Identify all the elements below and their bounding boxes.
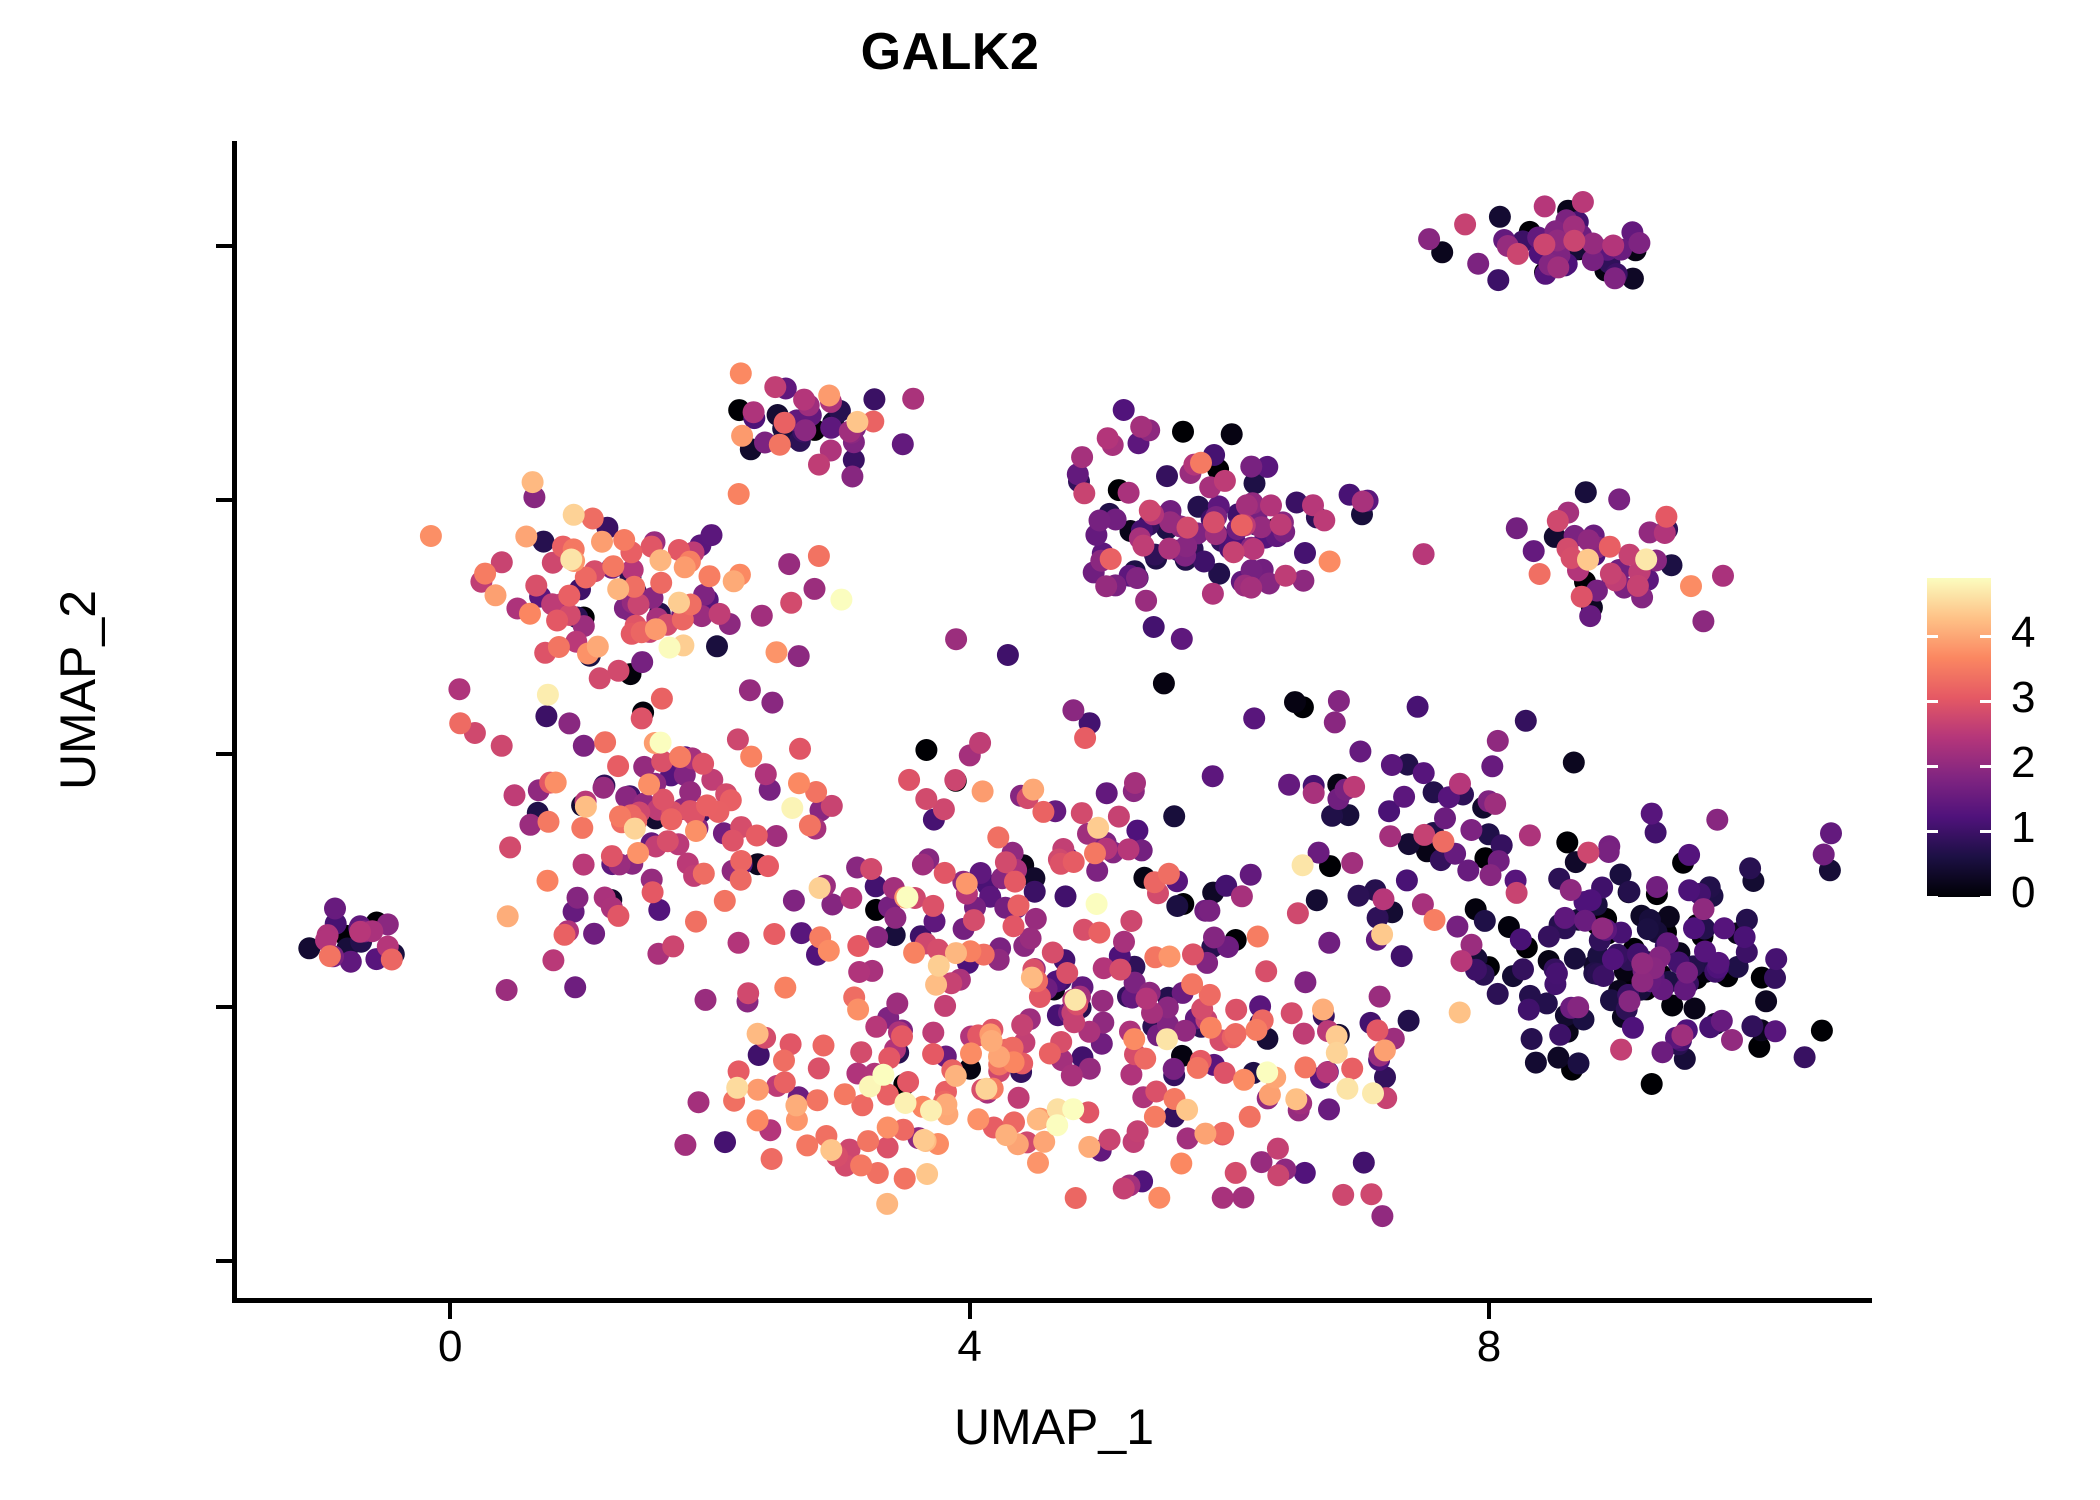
x-tick-label: 4 [910, 1322, 1030, 1372]
scatter-point [601, 845, 623, 867]
scatter-point [769, 434, 791, 456]
scatter-point [1027, 1152, 1049, 1174]
scatter-point [1712, 565, 1734, 587]
scatter-point [1294, 1056, 1316, 1078]
scatter-point [902, 388, 924, 410]
scatter-point [696, 794, 718, 816]
scatter-point [1203, 511, 1225, 533]
scatter-point [1454, 213, 1476, 235]
scatter-point [737, 982, 759, 1004]
scatter-point [1579, 605, 1601, 627]
scatter-point [1602, 235, 1624, 257]
scatter-point [525, 575, 547, 597]
scatter-point [1352, 491, 1374, 513]
scatter-point [1032, 801, 1054, 823]
scatter-point [818, 940, 840, 962]
colorbar-tick-label: 4 [2011, 611, 2035, 655]
scatter-point [1027, 1109, 1049, 1131]
scatter-point [607, 905, 629, 927]
scatter-point [558, 585, 580, 607]
scatter-point [1460, 819, 1482, 841]
scatter-point [1240, 864, 1262, 886]
scatter-point [1243, 538, 1265, 560]
scatter-point [1341, 1058, 1363, 1080]
scatter-point [848, 961, 870, 983]
scatter-point [591, 531, 613, 553]
scatter-point [761, 692, 783, 714]
scatter-point [1306, 889, 1328, 911]
scatter-point [1132, 535, 1154, 557]
colorbar-tick-mark [1927, 830, 1938, 833]
scatter-point [1591, 917, 1613, 939]
scatter-point [1556, 831, 1578, 853]
scatter-point [1348, 885, 1370, 907]
scatter-point [799, 815, 821, 837]
scatter-point [607, 578, 629, 600]
scatter-point [542, 949, 564, 971]
scatter-point [587, 636, 609, 658]
scatter-point [662, 935, 684, 957]
scatter-point [381, 949, 403, 971]
scatter-point [650, 732, 672, 754]
scatter-point [1341, 852, 1363, 874]
scatter-point [766, 641, 788, 663]
scatter-point [944, 769, 966, 791]
scatter-point [1641, 1073, 1663, 1095]
scatter-point [1284, 691, 1306, 713]
scatter-point [781, 797, 803, 819]
scatter-point [981, 1030, 1003, 1052]
scatter-point [607, 755, 629, 777]
scatter-point [1604, 267, 1626, 289]
scatter-point [1512, 958, 1534, 980]
scatter-point [1480, 864, 1502, 886]
scatter-point [896, 886, 918, 908]
scatter-point [915, 739, 937, 761]
scatter-point [1231, 885, 1253, 907]
scatter-point [898, 769, 920, 791]
scatter-point [1451, 950, 1473, 972]
scatter-point [747, 1079, 769, 1101]
y-axis-title: UMAP_2 [49, 390, 107, 990]
scatter-point [613, 529, 635, 551]
scatter-point [808, 545, 830, 567]
scatter-point [1328, 690, 1350, 712]
scatter-point [548, 636, 570, 658]
scatter-point [1765, 948, 1787, 970]
scatter-point [627, 842, 649, 864]
scatter-point [1294, 542, 1316, 564]
scatter-point [1214, 1062, 1236, 1084]
scatter-point [474, 563, 496, 585]
scatter-point [1246, 1019, 1268, 1041]
scatter-point [1170, 1153, 1192, 1175]
scatter-point [1739, 857, 1761, 879]
scatter-point [763, 923, 785, 945]
scatter-point [866, 926, 888, 948]
scatter-point [761, 1148, 783, 1170]
scatter-point [1194, 1123, 1216, 1145]
scatter-point [701, 524, 723, 546]
scatter-point [1820, 822, 1842, 844]
scatter-point [1324, 711, 1346, 733]
scatter-point [1582, 233, 1604, 255]
scatter-point [788, 645, 810, 667]
scatter-point [1198, 900, 1220, 922]
scatter-point [589, 667, 611, 689]
scatter-point [1240, 577, 1262, 599]
scatter-point [778, 553, 800, 575]
scatter-point [794, 419, 816, 441]
scatter-point [706, 635, 728, 657]
scatter-point [602, 555, 624, 577]
scatter-point [1126, 567, 1148, 589]
scatter-point [594, 731, 616, 753]
scatter-point [751, 605, 773, 627]
scatter-point [1457, 860, 1479, 882]
scatter-point [1434, 807, 1456, 829]
scatter-point [1353, 1152, 1375, 1174]
colorbar-tick-label: 0 [2011, 871, 2035, 915]
scatter-point [624, 818, 646, 840]
scatter-point [657, 830, 679, 852]
scatter-point [987, 826, 1009, 848]
colorbar-gradient [1927, 578, 1991, 897]
scatter-point [804, 578, 826, 600]
scatter-point [1706, 809, 1728, 831]
scatter-point [1560, 879, 1582, 901]
scatter-point [1755, 990, 1777, 1012]
scatter-point [1078, 1136, 1100, 1158]
scatter-point [1474, 910, 1496, 932]
scatter-point [730, 869, 752, 891]
scatter-point [850, 1041, 872, 1063]
scatter-point [1088, 922, 1110, 944]
scatter-point [1534, 195, 1556, 217]
scatter-point [847, 935, 869, 957]
scatter-point [1267, 1138, 1289, 1160]
scatter-point [535, 705, 557, 727]
scatter-point [1515, 710, 1537, 732]
scatter-point [1652, 1041, 1674, 1063]
scatter-point [1120, 910, 1142, 932]
scatter-point [1641, 803, 1663, 825]
scatter-point [660, 808, 682, 830]
scatter-point [1811, 1020, 1833, 1042]
scatter-point [1563, 752, 1585, 774]
scatter-point [1343, 776, 1365, 798]
scatter-point [1267, 1164, 1289, 1186]
scatter-point [1600, 563, 1622, 585]
scatter-point [850, 1154, 872, 1176]
scatter-point [1523, 540, 1545, 562]
scatter-point [651, 688, 673, 710]
scatter-point [1646, 876, 1668, 898]
scatter-point [1062, 699, 1084, 721]
scatter-point [709, 603, 731, 625]
scatter-point [1319, 551, 1341, 573]
scatter-point [1396, 869, 1418, 891]
scatter-point [1221, 423, 1243, 445]
scatter-point [1008, 1087, 1030, 1109]
scatter-point [916, 1163, 938, 1185]
scatter-point [1525, 1052, 1547, 1074]
scatter-point [903, 942, 925, 964]
scatter-point [1671, 1024, 1693, 1046]
scatter-point [688, 1091, 710, 1113]
scatter-point [1223, 541, 1245, 563]
scatter-point [1676, 962, 1698, 984]
scatter-point [564, 976, 586, 998]
scatter-point [1086, 893, 1108, 915]
scatter-point [1056, 962, 1078, 984]
scatter-point [1608, 488, 1630, 510]
scatter-point [818, 385, 840, 407]
scatter-point [1366, 1019, 1388, 1041]
scatter-point [728, 483, 750, 505]
scatter-point [593, 777, 615, 799]
scatter-point [1095, 575, 1117, 597]
scatter-point [1336, 1078, 1358, 1100]
scatter-point [1449, 773, 1471, 795]
scatter-point [1379, 825, 1401, 847]
scatter-point [1172, 421, 1194, 443]
scatter-point [1225, 1162, 1247, 1184]
scatter-point [1202, 765, 1224, 787]
scatter-point [1247, 926, 1269, 948]
scatter-point [554, 924, 576, 946]
y-tick-mark [216, 498, 232, 502]
chart-root: GALK2 7.55.02.50.0-2.5 048 UMAP_1 UMAP_2… [0, 0, 2100, 1500]
scatter-point [1568, 1052, 1590, 1074]
scatter-point [746, 825, 768, 847]
scatter-point [1163, 805, 1185, 827]
page-title: GALK2 [0, 22, 1900, 82]
scatter-point [774, 412, 796, 434]
scatter-point [1602, 948, 1624, 970]
scatter-point [1318, 932, 1340, 954]
scatter-point [1373, 888, 1395, 910]
scatter-point [563, 504, 585, 526]
scatter-point [1547, 1047, 1569, 1069]
scatter-point [1108, 806, 1130, 828]
scatter-point [740, 746, 762, 768]
scatter-point [650, 572, 672, 594]
scatter-point [1225, 1023, 1247, 1045]
scatter-point [1371, 923, 1393, 945]
scatter-point [1578, 529, 1600, 551]
plot-panel [236, 141, 1872, 1300]
scatter-point [420, 525, 442, 547]
scatter-point [1362, 1082, 1384, 1104]
scatter-point [727, 728, 749, 750]
scatter-point [945, 628, 967, 650]
scatter-point [1413, 762, 1435, 784]
scatter-point [319, 945, 341, 967]
scatter-point [546, 610, 568, 632]
scatter-point [573, 735, 595, 757]
scatter-point [1193, 551, 1215, 573]
scatter-point [1374, 1039, 1396, 1061]
colorbar-tick-mark [1980, 896, 1991, 899]
scatter-point [1190, 452, 1212, 474]
scatter-point [1619, 990, 1641, 1012]
scatter-point [808, 1057, 830, 1079]
scatter-point [1074, 727, 1096, 749]
y-tick-mark [216, 1005, 232, 1009]
scatter-point [1124, 772, 1146, 794]
scatter-point [1631, 952, 1653, 974]
scatter-point [1275, 565, 1297, 587]
scatter-point [1113, 1178, 1135, 1200]
scatter-point [1360, 1183, 1382, 1205]
scatter-point [945, 1065, 967, 1087]
scatter-point [1567, 996, 1589, 1018]
x-tick-mark [1487, 1303, 1491, 1319]
colorbar-tick-mark [1927, 765, 1938, 768]
scatter-point [840, 887, 862, 909]
scatter-point [809, 877, 831, 899]
scatter-point [1577, 549, 1599, 571]
scatter-point [695, 989, 717, 1011]
scatter-point [876, 1193, 898, 1215]
scatter-point [1225, 999, 1247, 1021]
scatter-point [714, 890, 736, 912]
scatter-point [1233, 1069, 1255, 1091]
scatter-point [1547, 510, 1569, 532]
scatter-point [847, 999, 869, 1021]
scatter-point [1099, 1129, 1121, 1151]
scatter-point [448, 678, 470, 700]
scatter-point [1109, 959, 1131, 981]
x-tick-label: 0 [390, 1322, 510, 1372]
scatter-point [685, 820, 707, 842]
scatter-point [995, 851, 1017, 873]
scatter-point [485, 584, 507, 606]
scatter-point [324, 898, 346, 920]
scatter-point [997, 644, 1019, 666]
scatter-point [608, 660, 630, 682]
scatter-point [1398, 1010, 1420, 1032]
scatter-point [743, 401, 765, 423]
scatter-point [1303, 782, 1325, 804]
scatter-point [1064, 989, 1086, 1011]
x-tick-mark [448, 1303, 452, 1319]
scatter-point [449, 712, 471, 734]
scatter-point [1100, 548, 1122, 570]
scatter-point [1610, 1039, 1632, 1061]
scatter-point [1692, 610, 1714, 632]
scatter-point [1318, 1098, 1340, 1120]
scatter-point [1021, 967, 1043, 989]
scatter-point [1113, 931, 1135, 953]
scatter-point [892, 433, 914, 455]
scatter-point [1678, 844, 1700, 866]
scatter-point [1683, 917, 1705, 939]
scatter-point [912, 854, 934, 876]
scatter-point [1546, 963, 1568, 985]
scatter-point [1622, 1017, 1644, 1039]
scatter-point [515, 526, 537, 548]
scatter-point [1572, 191, 1594, 213]
scatter-point [1065, 1187, 1087, 1209]
scatter-point [349, 921, 371, 943]
scatter-point [1518, 999, 1540, 1021]
scatter-point [757, 855, 779, 877]
scatter-point [1011, 1014, 1033, 1036]
scatter-point [1484, 793, 1506, 815]
colorbar-tick-mark [1980, 765, 1991, 768]
scatter-point [674, 1134, 696, 1156]
scatter-point [785, 1094, 807, 1116]
colorbar-tick-label: 2 [2011, 741, 2035, 785]
scatter-point [1645, 822, 1667, 844]
scatter-point [1084, 842, 1106, 864]
scatter-point [685, 911, 707, 933]
scatter-point [895, 1092, 917, 1114]
scatter-point [1680, 575, 1702, 597]
scatter-point [645, 618, 667, 640]
scatter-point [972, 780, 994, 802]
scatter-point [1118, 482, 1140, 504]
colorbar-tick-mark [1980, 700, 1991, 703]
scatter-point [1711, 1010, 1733, 1032]
scatter-point [1123, 1028, 1145, 1050]
scatter-point [1510, 928, 1532, 950]
scatter-point [1285, 1088, 1307, 1110]
scatter-point [739, 679, 761, 701]
scatter-point [925, 974, 947, 996]
scatter-point [1260, 494, 1282, 516]
scatter-point [1637, 918, 1659, 940]
scatter-point [1135, 590, 1157, 612]
scatter-point [1708, 952, 1730, 974]
scatter-point [693, 863, 715, 885]
scatter-point [1713, 917, 1735, 939]
scatter-point [1349, 741, 1371, 763]
scatter-point [1538, 926, 1560, 948]
scatter-point [631, 707, 653, 729]
scatter-point [975, 1078, 997, 1100]
scatter-point [897, 1071, 919, 1093]
scatter-point [1089, 510, 1111, 532]
scatter-point [1071, 446, 1093, 468]
scatter-point [1489, 206, 1511, 228]
scatter-point [1407, 696, 1429, 718]
scatter-point [1158, 863, 1180, 885]
scatter-point [863, 388, 885, 410]
scatter-point [780, 592, 802, 614]
scatter-point [1794, 1046, 1816, 1068]
scatter-point [1003, 915, 1025, 937]
scatter-point [1571, 586, 1593, 608]
scatter-point [730, 362, 752, 384]
colorbar-tick-label: 1 [2011, 806, 2035, 850]
scatter-point [1332, 1184, 1354, 1206]
scatter-point [1182, 943, 1204, 965]
scatter-point [788, 772, 810, 794]
scatter-point [928, 955, 950, 977]
scatter-point [922, 1022, 944, 1044]
scatter-point [1061, 1064, 1083, 1086]
scatter-point [731, 425, 753, 447]
scatter-point [1487, 983, 1509, 1005]
scatter-point [1627, 575, 1649, 597]
scatter-point [1684, 998, 1706, 1020]
scatter-point [1240, 456, 1262, 478]
scatter-point [1187, 1057, 1209, 1079]
scatter-point [1153, 672, 1175, 694]
